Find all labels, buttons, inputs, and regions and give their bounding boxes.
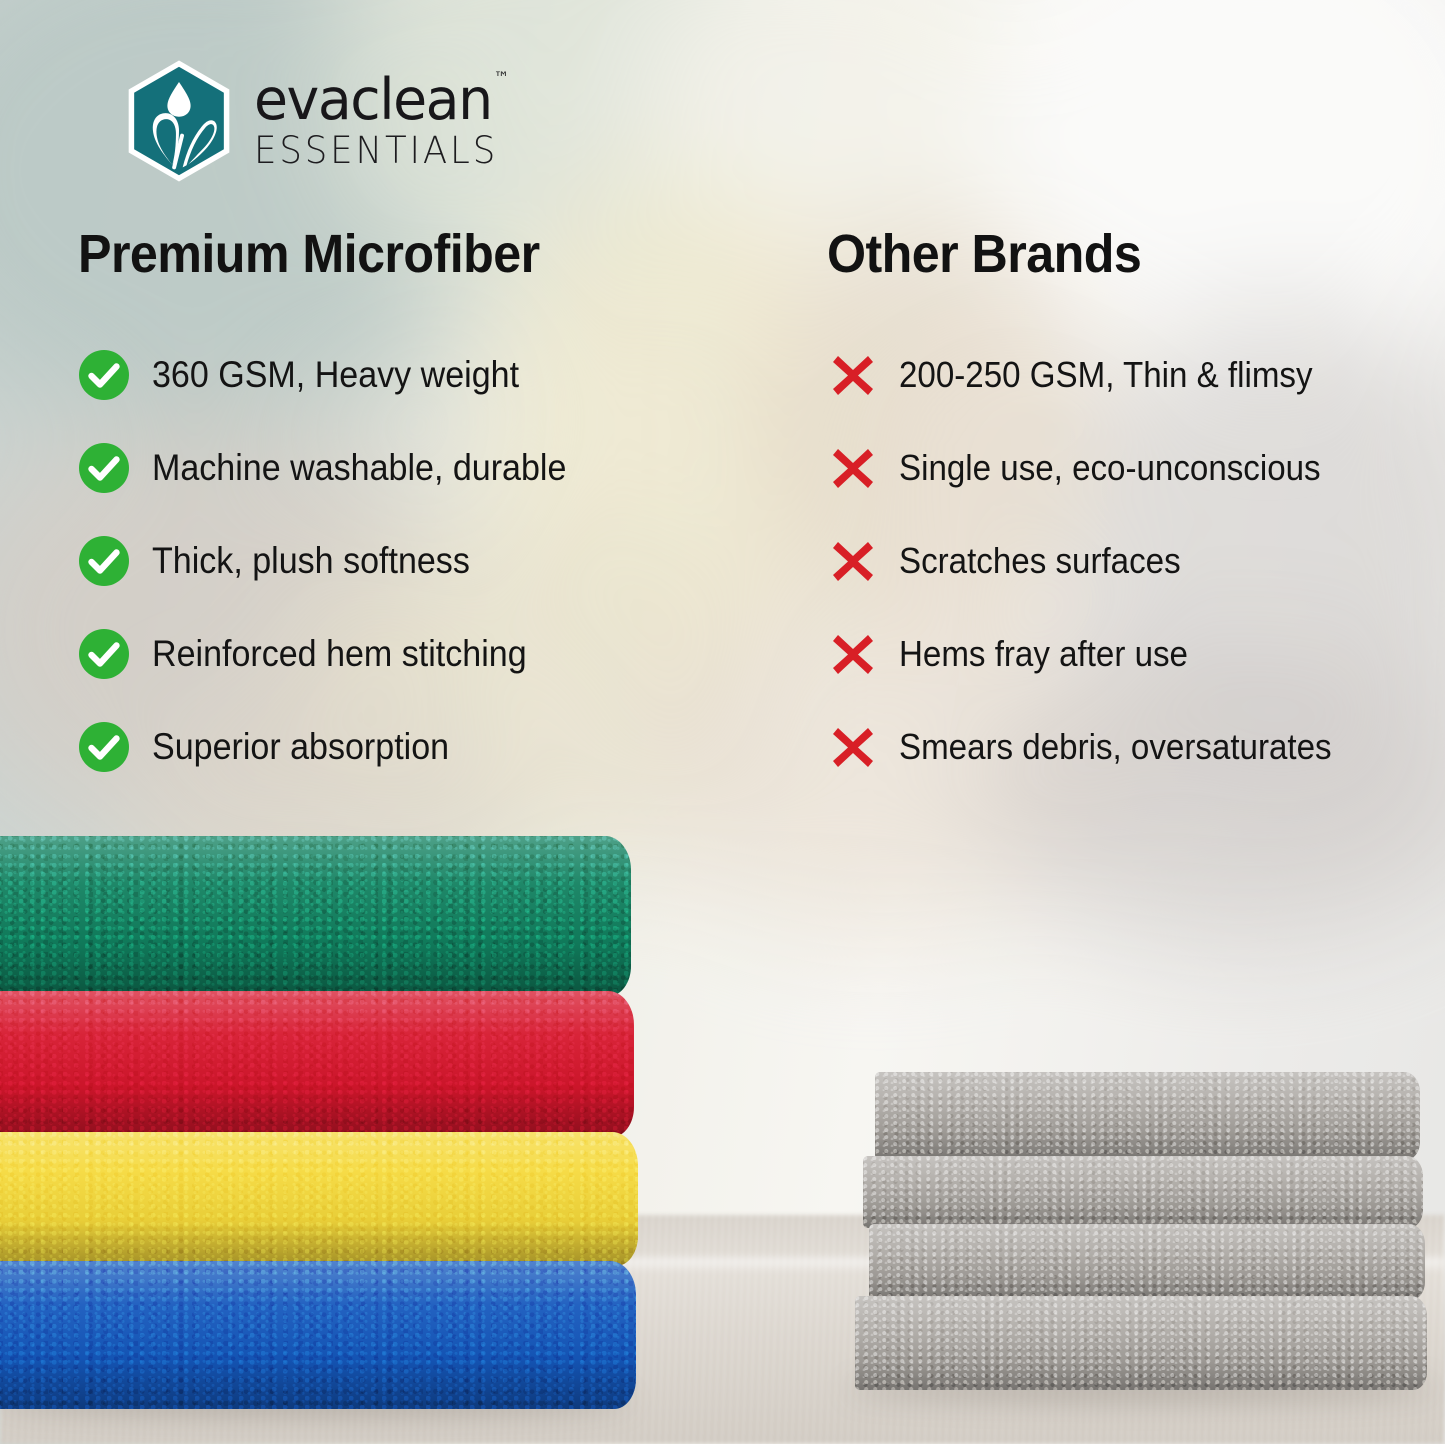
green-check-circle-icon bbox=[78, 721, 130, 773]
red-cross-icon bbox=[827, 349, 879, 401]
list-item-label: 200-250 GSM, Thin & flimsy bbox=[899, 355, 1313, 395]
list-item: Reinforced hem stitching bbox=[78, 608, 778, 701]
list-item: Machine washable, durable bbox=[78, 422, 778, 515]
list-item-label: Reinforced hem stitching bbox=[152, 633, 527, 674]
brand-logo: evaclean™ ESSENTIALS bbox=[118, 60, 517, 182]
gray-microfiber-towel-stack bbox=[855, 1072, 1430, 1392]
green-check-circle-icon bbox=[78, 442, 130, 494]
list-item: 200-250 GSM, Thin & flimsy bbox=[827, 329, 1437, 422]
list-item-label: Smears debris, oversaturates bbox=[899, 727, 1332, 767]
list-item-label: Hems fray after use bbox=[899, 634, 1188, 674]
list-item: Single use, eco-unconscious bbox=[827, 422, 1437, 515]
product-comparison-infographic: evaclean™ ESSENTIALS Premium Microfiber … bbox=[0, 0, 1445, 1444]
evaclean-hexagon-leaf-logo bbox=[118, 60, 240, 182]
other-brands-column: Other Brands 200-250 GSM, Thin & flimsy … bbox=[827, 226, 1437, 794]
towel-green bbox=[0, 836, 631, 996]
list-item-label: 360 GSM, Heavy weight bbox=[152, 354, 519, 395]
towel-yellow bbox=[0, 1132, 638, 1266]
list-item-label: Thick, plush softness bbox=[152, 540, 470, 581]
list-item: Hems fray after use bbox=[827, 608, 1437, 701]
list-item: Thick, plush softness bbox=[78, 515, 778, 608]
other-brands-column-title: Other Brands bbox=[827, 226, 1394, 283]
list-item: Scratches surfaces bbox=[827, 515, 1437, 608]
list-item-label: Scratches surfaces bbox=[899, 541, 1181, 581]
wordmark-text: evaclean bbox=[254, 67, 492, 133]
towel-gray-3 bbox=[869, 1224, 1425, 1300]
towel-gray-4 bbox=[855, 1296, 1427, 1390]
green-check-circle-icon bbox=[78, 628, 130, 680]
red-cross-icon bbox=[827, 628, 879, 680]
list-item-label: Superior absorption bbox=[152, 726, 449, 767]
green-check-circle-icon bbox=[78, 349, 130, 401]
towel-red bbox=[0, 991, 634, 1137]
towel-blue bbox=[0, 1261, 636, 1409]
towel-gray-1 bbox=[875, 1072, 1420, 1160]
brand-sub-wordmark: ESSENTIALS bbox=[254, 130, 507, 171]
other-brands-feature-list: 200-250 GSM, Thin & flimsy Single use, e… bbox=[827, 329, 1437, 794]
premium-feature-list: 360 GSM, Heavy weight Machine washable, … bbox=[78, 329, 778, 794]
list-item-label: Single use, eco-unconscious bbox=[899, 448, 1321, 488]
premium-column: Premium Microfiber 360 GSM, Heavy weight… bbox=[78, 226, 778, 794]
premium-column-title: Premium Microfiber bbox=[78, 226, 729, 283]
colored-microfiber-towel-stack bbox=[0, 836, 646, 1401]
red-cross-icon bbox=[827, 442, 879, 494]
list-item: Smears debris, oversaturates bbox=[827, 701, 1437, 794]
towel-gray-2 bbox=[863, 1156, 1423, 1228]
red-cross-icon bbox=[827, 721, 879, 773]
green-check-circle-icon bbox=[78, 535, 130, 587]
list-item: 360 GSM, Heavy weight bbox=[78, 329, 778, 422]
red-cross-icon bbox=[827, 535, 879, 587]
list-item-label: Machine washable, durable bbox=[152, 447, 566, 488]
trademark-symbol: ™ bbox=[494, 68, 510, 87]
list-item: Superior absorption bbox=[78, 701, 778, 794]
brand-wordmark: evaclean™ bbox=[254, 74, 509, 128]
